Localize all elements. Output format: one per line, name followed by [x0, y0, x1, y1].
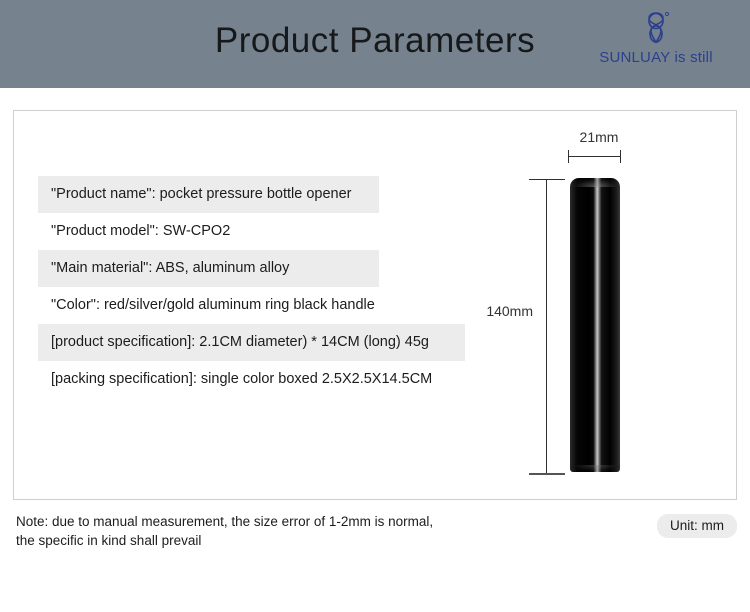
height-dimension-tick-bottom [529, 473, 565, 475]
spec-row: [product specification]: 2.1CM diameter)… [38, 324, 465, 361]
page-header: Product Parameters SUNLUAY is still [0, 0, 750, 88]
measurement-note-line-2: the specific in kind shall prevail [16, 531, 576, 550]
width-dimension-tick-right [620, 150, 621, 163]
black-bottle-opener-tube [570, 178, 620, 472]
height-dimension-line [546, 179, 547, 473]
brand-name: SUNLUAY is still [576, 49, 736, 66]
spec-row: "Product name": pocket pressure bottle o… [38, 176, 379, 213]
spec-list: "Product name": pocket pressure bottle o… [38, 176, 488, 398]
unit-badge: Unit: mm [657, 514, 737, 538]
width-dimension-label: 21mm [554, 129, 644, 145]
product-figure: 21mm 140mm [469, 111, 737, 499]
measurement-note: Note: due to manual measurement, the siz… [16, 512, 576, 550]
spec-row: "Main material": ABS, aluminum alloy [38, 250, 379, 287]
spec-row: "Product model": SW-CPO2 [38, 213, 379, 250]
sunluay-emblem-icon [576, 8, 736, 48]
measurement-note-line-1: Note: due to manual measurement, the siz… [16, 512, 576, 531]
tube-top-cap [570, 178, 620, 187]
brand-logo: SUNLUAY is still [576, 8, 736, 80]
width-dimension-tick-left [568, 150, 569, 163]
parameters-panel: "Product name": pocket pressure bottle o… [13, 110, 737, 500]
spec-row: "Color": red/silver/gold aluminum ring b… [38, 287, 379, 324]
tube-bottom-edge [570, 465, 620, 472]
width-dimension-line [568, 156, 620, 157]
height-dimension-label: 140mm [471, 303, 533, 319]
spec-row: [packing specification]: single color bo… [38, 361, 465, 398]
height-dimension-tick-top [529, 179, 565, 180]
